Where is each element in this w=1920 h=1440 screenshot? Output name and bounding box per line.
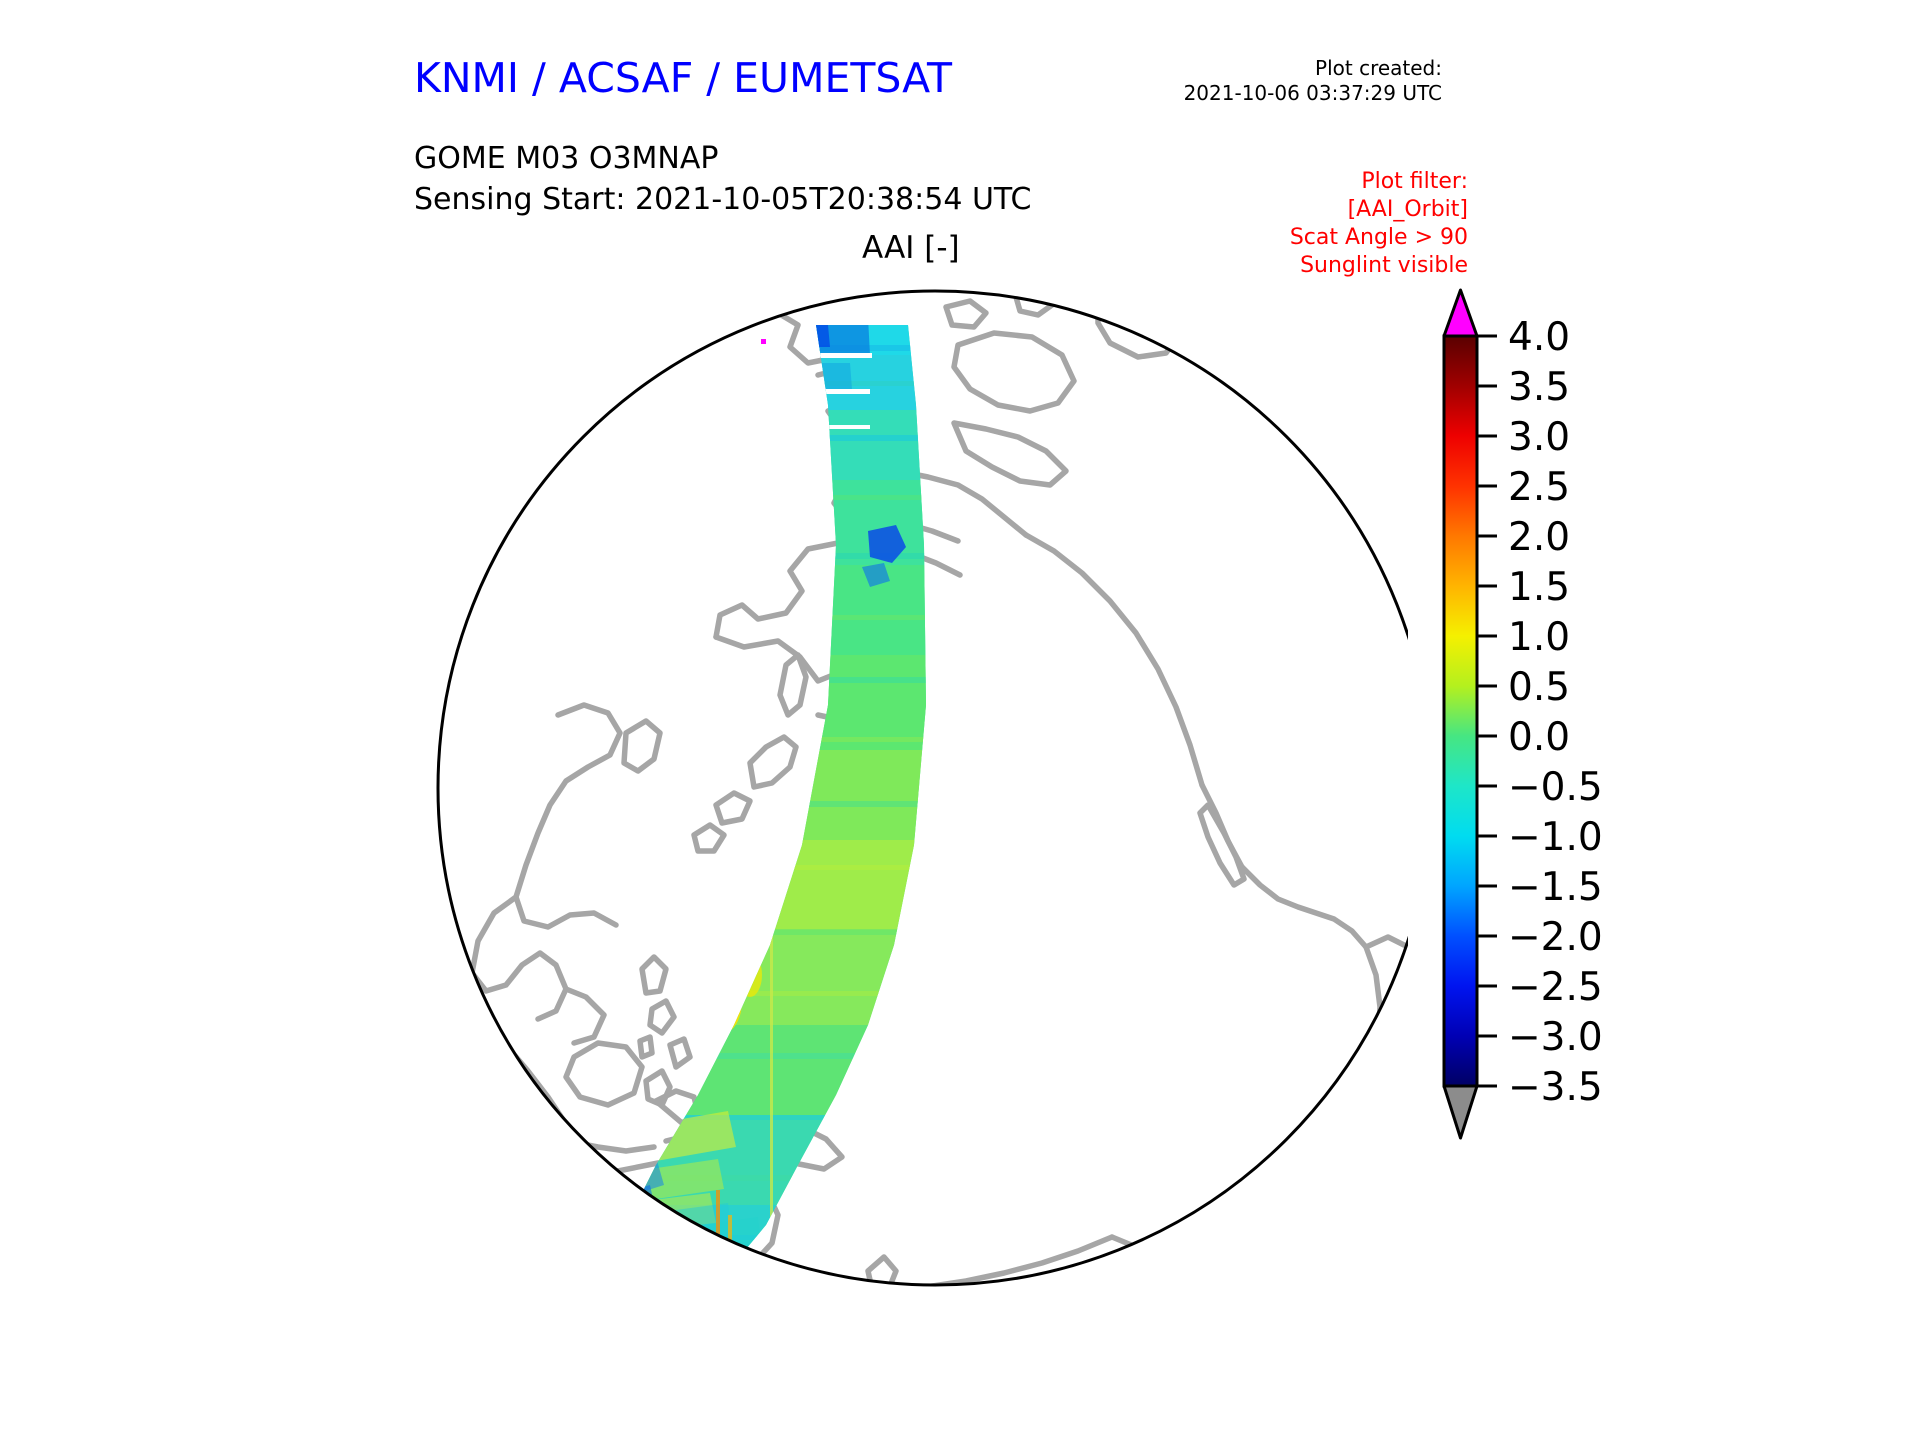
colorbar-tick-label: 0.0 [1508,715,1570,760]
colorbar-under-arrow [1444,1086,1477,1138]
dataset-block: GOME M03 O3MNAP Sensing Start: 2021-10-0… [414,138,1031,220]
colorbar-tick-label: −3.0 [1508,1015,1603,1060]
over-range-marker [588,1282,620,1292]
colorbar-ticks [1477,336,1497,1086]
colorbar-tick-label: −1.5 [1508,865,1603,910]
map-plot-area [398,285,1408,1295]
dataset-name: GOME M03 O3MNAP [414,138,1031,179]
colorbar-tick-label: 0.5 [1508,665,1570,710]
colorbar-tick-label: 2.5 [1508,465,1570,510]
colorbar-tick-labels: 4.0 3.5 3.0 2.5 2.0 1.5 1.0 0.5 0.0 −0.5… [1508,315,1603,1110]
plot-canvas: KNMI / ACSAF / EUMETSAT Plot created: 20… [0,0,1920,1440]
plot-filter-title: Plot filter: [1290,168,1468,196]
colorbar: 4.0 3.5 3.0 2.5 2.0 1.5 1.0 0.5 0.0 −0.5… [1430,280,1750,1330]
organisation-title: KNMI / ACSAF / EUMETSAT [414,54,952,102]
colorbar-over-arrow [1444,290,1477,336]
colorbar-tick-label: −3.5 [1508,1065,1603,1110]
plot-filter-line-0: [AAI_Orbit] [1290,196,1468,224]
sensing-start: Sensing Start: 2021-10-05T20:38:54 UTC [414,179,1031,220]
arctic-over-range-speck [761,339,766,344]
colorbar-tick-label: −1.0 [1508,815,1603,860]
colorbar-tick-label: −0.5 [1508,765,1603,810]
plot-created-label: Plot created: [1184,56,1442,81]
colorbar-tick-label: 3.5 [1508,365,1570,410]
colorbar-tick-label: 4.0 [1508,315,1570,360]
globe-disc [438,291,1408,1285]
colorbar-tick-label: 3.0 [1508,415,1570,460]
colorbar-tick-label: −2.0 [1508,915,1603,960]
plot-created-block: Plot created: 2021-10-06 03:37:29 UTC [1184,56,1442,106]
globe-map [398,285,1408,1295]
colorbar-tick-label: 1.5 [1508,565,1570,610]
colorbar-tick-label: −2.5 [1508,965,1603,1010]
colorbar-tick-label: 2.0 [1508,515,1570,560]
variable-title: AAI [-] [862,230,960,266]
colorbar-gradient [1444,336,1477,1086]
plot-filter-line-1: Scat Angle > 90 [1290,224,1468,252]
colorbar-tick-label: 1.0 [1508,615,1570,660]
plot-created-value: 2021-10-06 03:37:29 UTC [1184,81,1442,106]
plot-filter-line-2: Sunglint visible [1290,252,1468,280]
plot-filter-block: Plot filter: [AAI_Orbit] Scat Angle > 90… [1290,168,1468,280]
